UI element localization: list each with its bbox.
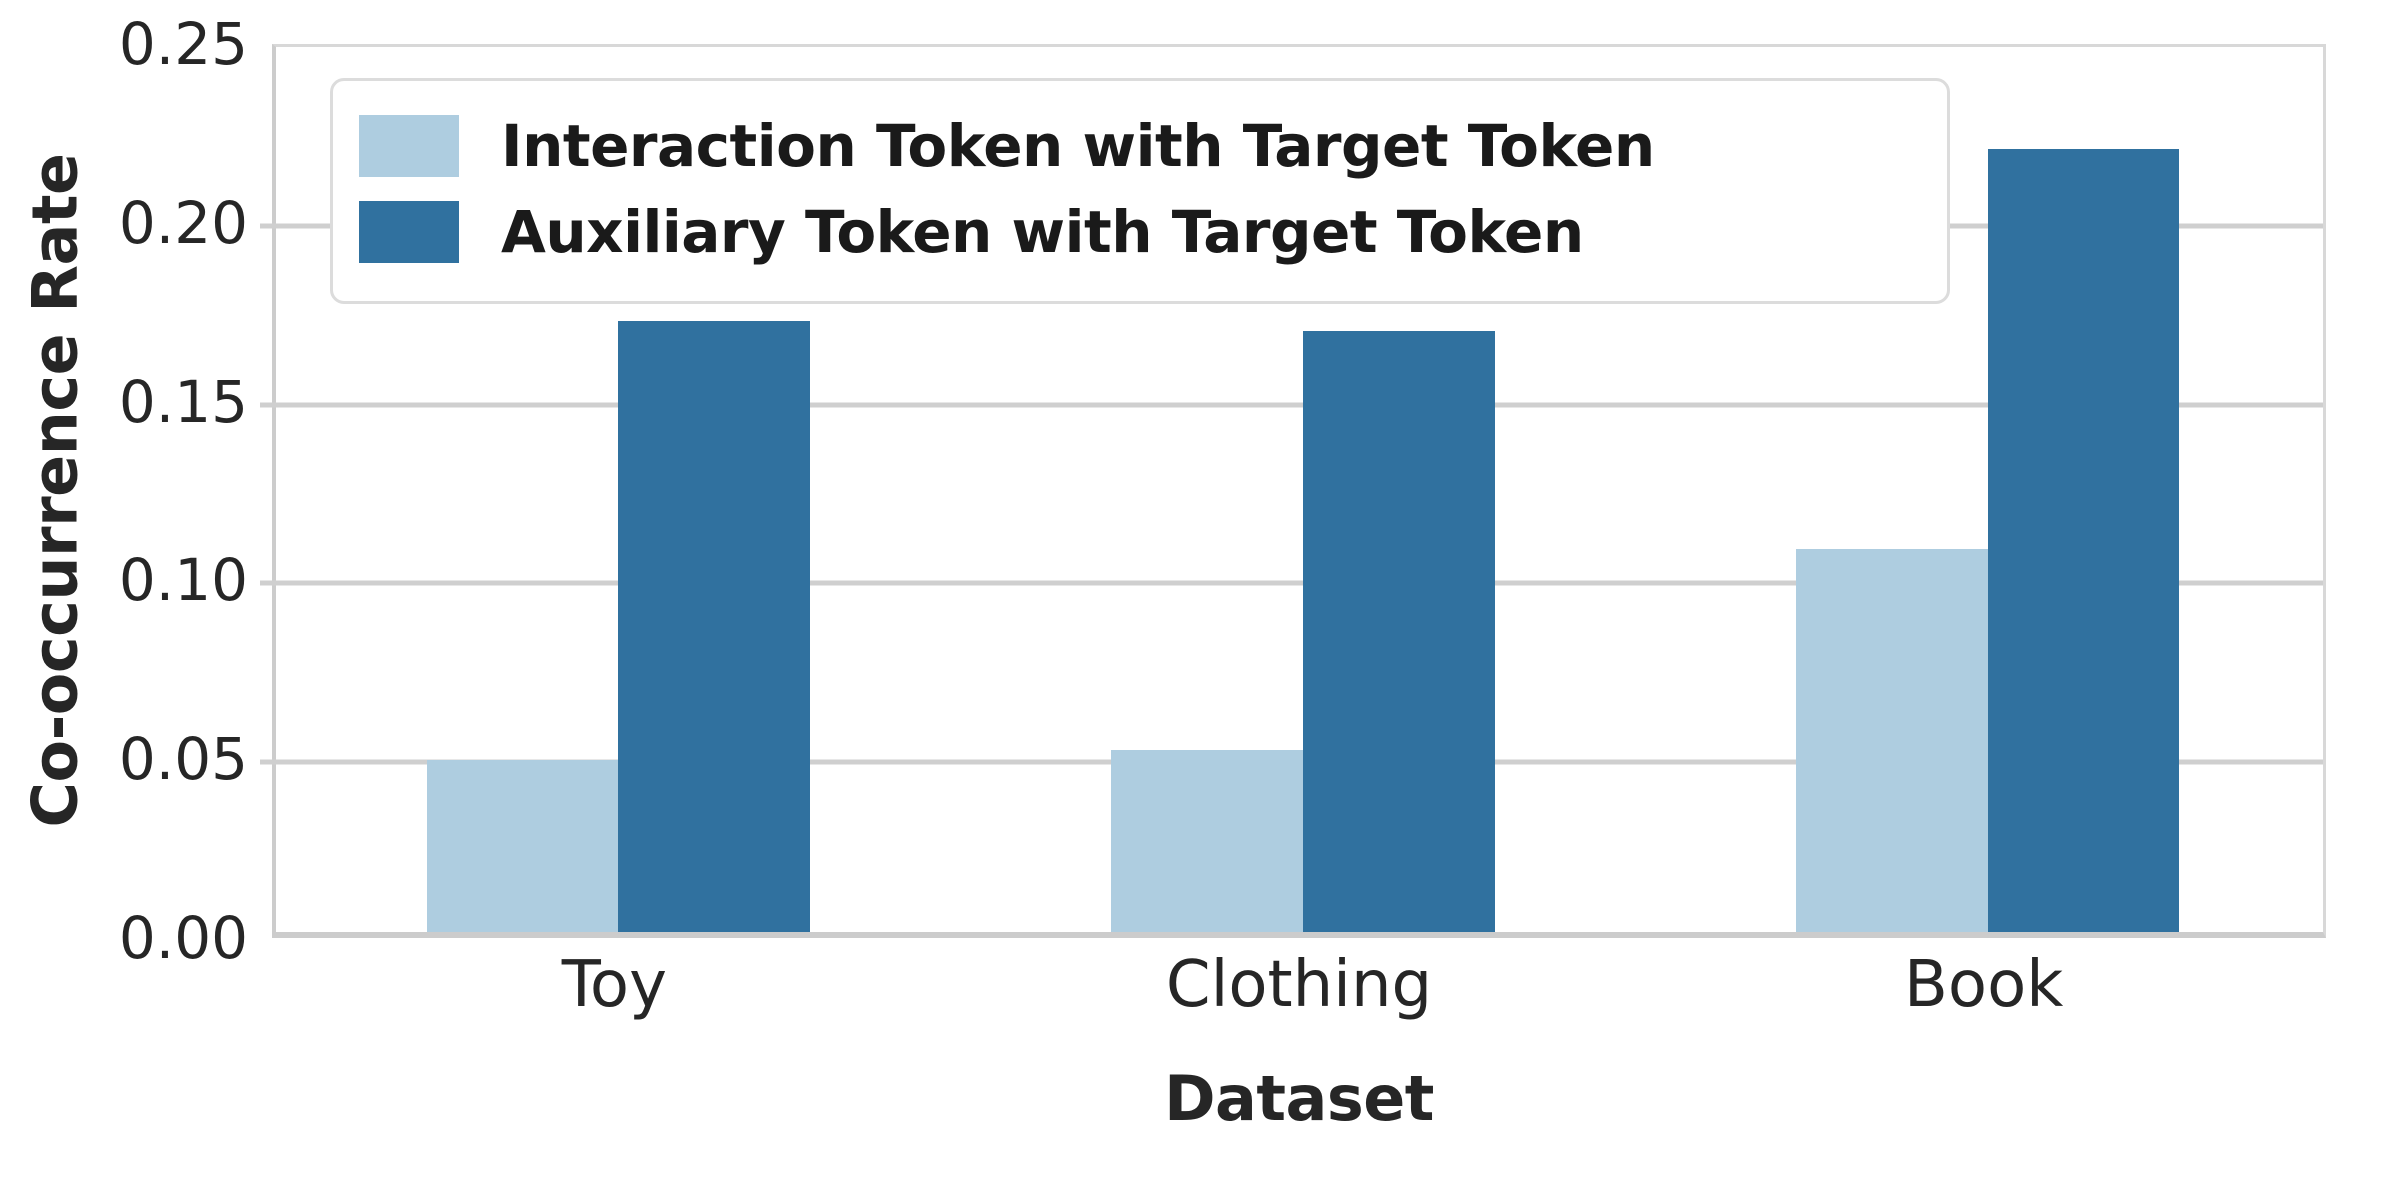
y-axis-tickmark xyxy=(260,760,276,765)
bar[interactable] xyxy=(1111,750,1303,932)
y-axis-tick-label: 0.15 xyxy=(119,368,248,436)
bar[interactable] xyxy=(618,321,810,932)
x-axis-tick-label: Book xyxy=(1904,948,2063,1022)
bar[interactable] xyxy=(1796,549,1988,932)
legend-item[interactable]: Interaction Token with Target Token xyxy=(359,103,1921,189)
y-axis-title-text: Co-occurrence Rate xyxy=(19,153,92,827)
y-axis-tick-label: 0.25 xyxy=(119,10,248,78)
legend-swatch-auxiliary-token xyxy=(359,201,459,263)
x-axis-tick-labels: ToyClothingBook xyxy=(272,948,2326,1038)
y-axis-tickmark xyxy=(260,402,276,407)
bar[interactable] xyxy=(427,760,619,932)
bar-chart-figure: Co-occurrence Rate 0.000.050.100.150.200… xyxy=(0,0,2400,1200)
x-axis-tick-label: Toy xyxy=(562,948,667,1022)
y-axis-tick-labels: 0.000.050.100.150.200.25 xyxy=(110,44,270,938)
y-axis-tick-label: 0.20 xyxy=(119,189,248,257)
y-axis-title: Co-occurrence Rate xyxy=(0,0,110,980)
bar[interactable] xyxy=(1988,149,2180,932)
legend-label: Auxiliary Token with Target Token xyxy=(501,198,1584,266)
y-axis-tick-label: 0.10 xyxy=(119,546,248,614)
legend-label: Interaction Token with Target Token xyxy=(501,112,1655,180)
chart-legend: Interaction Token with Target Token Auxi… xyxy=(330,78,1950,304)
legend-item[interactable]: Auxiliary Token with Target Token xyxy=(359,189,1921,275)
y-axis-tickmark xyxy=(260,223,276,228)
y-axis-tick-label: 0.00 xyxy=(119,904,248,972)
bar[interactable] xyxy=(1303,331,1495,932)
y-axis-tick-label: 0.05 xyxy=(119,725,248,793)
x-axis-tick-label: Clothing xyxy=(1166,948,1432,1022)
x-axis-title: Dataset xyxy=(272,1062,2326,1135)
y-axis-tickmark xyxy=(260,581,276,586)
legend-swatch-interaction-token xyxy=(359,115,459,177)
